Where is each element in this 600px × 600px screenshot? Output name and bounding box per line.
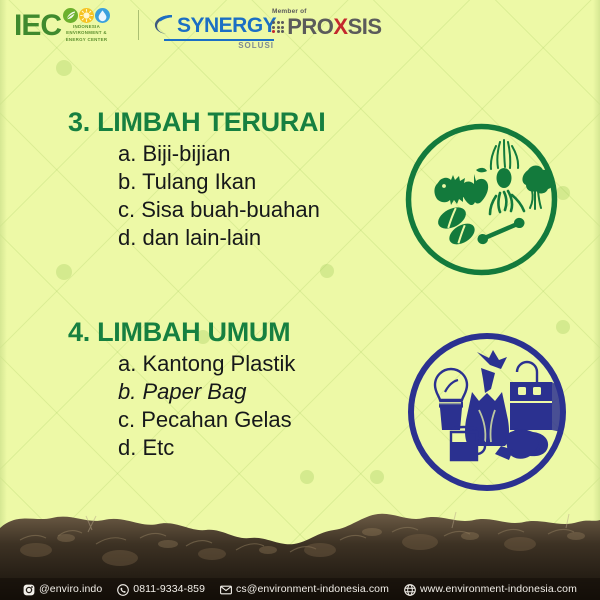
contact-text-instagram: @enviro.indo xyxy=(39,583,102,595)
contact-text-whatsapp: 0811-9334-859 xyxy=(133,583,205,595)
compost-photo-strip: @enviro.indo 0811-9334-859 cs@environmen… xyxy=(0,488,600,600)
poster-canvas: IEC INDONESIA ENVIRONMENT & ENE xyxy=(0,0,600,600)
proxsis-dot-matrix-icon xyxy=(272,21,284,33)
proxsis-word-pro: PRO xyxy=(287,14,333,39)
contact-item-whatsapp[interactable]: 0811-9334-859 xyxy=(117,583,205,595)
globe-icon xyxy=(404,583,416,595)
contact-item-website[interactable]: www.environment-indonesia.com xyxy=(404,583,577,595)
iec-icon-group xyxy=(63,8,110,23)
water-drop-icon xyxy=(95,8,110,23)
logo-iec: IEC INDONESIA ENVIRONMENT & ENE xyxy=(14,8,110,43)
proxsis-wordmark: PROXSIS xyxy=(287,16,381,38)
contact-bar: @enviro.indo 0811-9334-859 cs@environmen… xyxy=(0,578,600,600)
instagram-icon xyxy=(23,583,35,595)
iec-subtitle: INDONESIA ENVIRONMENT & ENERGY CENTER xyxy=(66,24,108,43)
whatsapp-icon xyxy=(117,583,129,595)
synergy-wordmark: SYNERGY xyxy=(177,15,276,36)
leaf-icon xyxy=(63,8,78,23)
contact-item-email[interactable]: cs@environment-indonesia.com xyxy=(220,583,389,595)
email-icon xyxy=(220,583,232,595)
sun-icon xyxy=(79,8,94,23)
iec-subtitle-line-3: ENERGY CENTER xyxy=(66,37,108,43)
iec-subtitle-line-2: ENVIRONMENT & xyxy=(66,30,108,36)
header-logo-bar: IEC INDONESIA ENVIRONMENT & ENE xyxy=(0,0,600,52)
contact-item-instagram[interactable]: @enviro.indo xyxy=(23,583,102,595)
proxsis-word-sis: SIS xyxy=(348,14,382,39)
synergy-subtitle: SOLUSI xyxy=(150,41,274,50)
logo-divider xyxy=(138,10,139,40)
contact-text-website: www.environment-indonesia.com xyxy=(420,583,577,595)
logo-synergy: SYNERGY SOLUSI xyxy=(150,12,276,50)
general-waste-circle-icon xyxy=(405,330,569,499)
iec-wordmark: IEC xyxy=(14,11,61,41)
synergy-swoosh-icon xyxy=(150,12,176,38)
organic-waste-circle-icon xyxy=(404,122,559,282)
proxsis-word-x: X xyxy=(333,14,347,39)
logo-proxsis: Member of PROXSIS xyxy=(272,8,382,38)
contact-text-email: cs@environment-indonesia.com xyxy=(236,583,389,595)
